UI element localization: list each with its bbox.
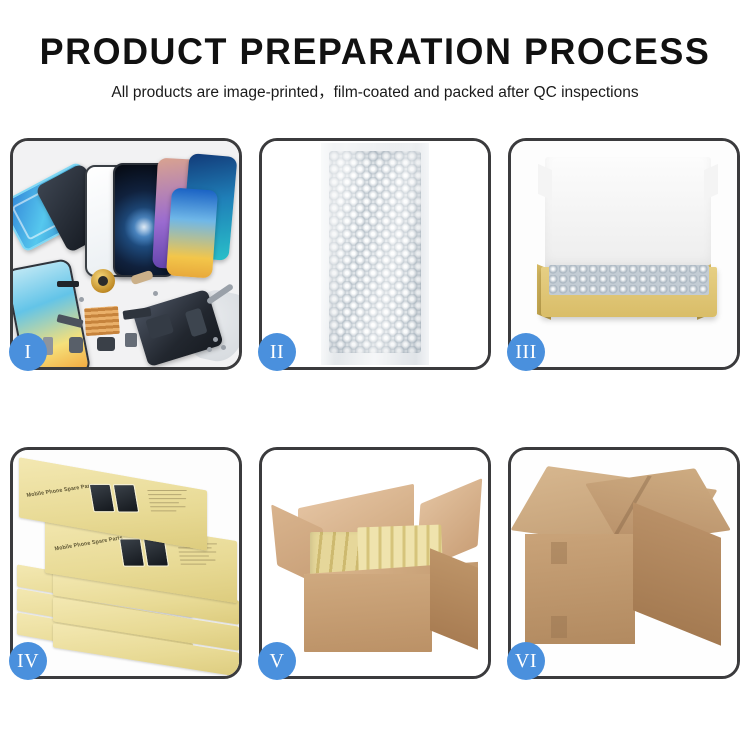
page-title: PRODUCT PREPARATION PROCESS bbox=[11, 30, 739, 74]
carton-tape-graphic bbox=[551, 616, 567, 638]
scene-stacked-boxes: Mobile Phone Spare Parts Mobile Phone Sp… bbox=[13, 450, 239, 676]
screw-icon bbox=[221, 345, 226, 350]
scene-bubble-wrap bbox=[262, 141, 488, 367]
scene-phones-and-parts bbox=[13, 141, 239, 367]
infographic-page: PRODUCT PREPARATION PROCESS All products… bbox=[0, 0, 750, 750]
step-panel-3: III bbox=[508, 138, 740, 370]
steps-grid: I II III bbox=[10, 138, 740, 679]
header: PRODUCT PREPARATION PROCESS All products… bbox=[0, 0, 750, 104]
camera-module-icon bbox=[69, 337, 83, 353]
screen-image-on-box bbox=[113, 484, 140, 512]
button-part-icon bbox=[125, 333, 137, 347]
step-badge-4: IV bbox=[9, 642, 47, 680]
screw-icon bbox=[207, 347, 212, 352]
copper-mesh-part-icon bbox=[84, 306, 120, 336]
step-badge-1: I bbox=[9, 333, 47, 371]
screw-icon bbox=[213, 337, 218, 342]
box-spec-lines bbox=[147, 490, 194, 514]
carton-front-face-graphic bbox=[304, 574, 432, 652]
screw-icon bbox=[79, 297, 84, 302]
speaker-part-icon bbox=[97, 337, 115, 351]
step-panel-5: V bbox=[259, 447, 491, 679]
screw-icon bbox=[153, 291, 158, 296]
carton-front-face-graphic bbox=[525, 534, 635, 644]
step-panel-2: II bbox=[259, 138, 491, 370]
page-subtitle: All products are image-printed，film-coat… bbox=[0, 82, 750, 104]
film-gloss-overlay bbox=[321, 143, 429, 365]
screen-image-on-box bbox=[89, 484, 116, 512]
step-badge-2: II bbox=[258, 333, 296, 371]
carton-tape-graphic bbox=[551, 542, 567, 564]
step-panel-1: I bbox=[10, 138, 242, 370]
part-strip-icon bbox=[57, 281, 79, 287]
box-stack-graphic: Mobile Phone Spare Parts Mobile Phone Sp… bbox=[17, 464, 239, 668]
coil-part-icon bbox=[91, 269, 115, 293]
step-panel-4: Mobile Phone Spare Parts Mobile Phone Sp… bbox=[10, 447, 242, 679]
box-lid-graphic bbox=[545, 157, 711, 269]
scene-open-flat-box bbox=[511, 141, 737, 367]
bubble-wrapped-contents-graphic bbox=[549, 265, 709, 295]
scene-sealed-carton bbox=[511, 450, 737, 676]
step-badge-3: III bbox=[507, 333, 545, 371]
step-panel-6: VI bbox=[508, 447, 740, 679]
screen-image-on-box bbox=[119, 538, 145, 566]
phone-screen-amber-graphic bbox=[166, 188, 218, 279]
step-badge-6: VI bbox=[507, 642, 545, 680]
step-badge-5: V bbox=[258, 642, 296, 680]
scene-open-carton bbox=[262, 450, 488, 676]
